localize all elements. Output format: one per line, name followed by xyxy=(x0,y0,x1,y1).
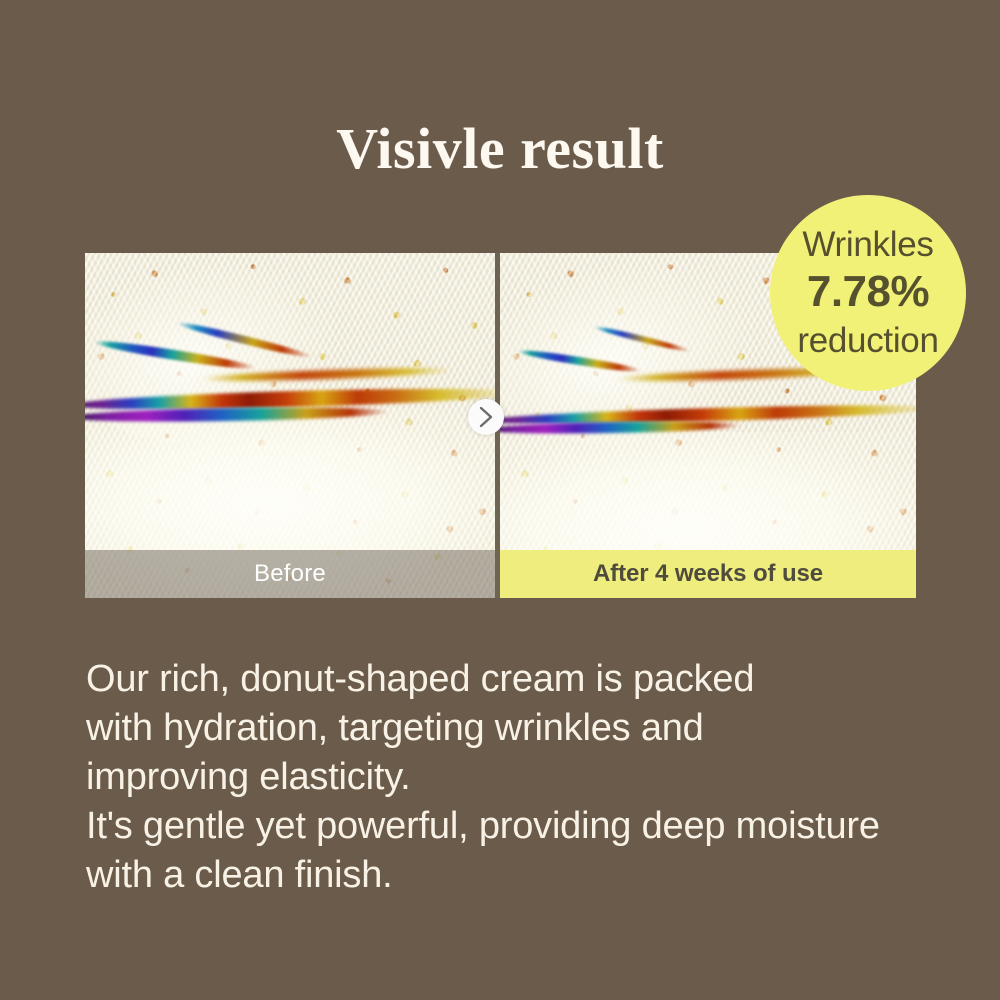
description-line-2: with hydration, targeting wrinkles and xyxy=(86,704,946,753)
after-caption: After 4 weeks of use xyxy=(500,550,916,598)
description-line-4: It's gentle yet powerful, providing deep… xyxy=(86,802,946,851)
before-panel: Before xyxy=(85,253,495,598)
wrinkle-reduction-badge: Wrinkles 7.78% reduction xyxy=(770,195,966,391)
badge-label-bottom: reduction xyxy=(797,319,938,363)
product-description: Our rich, donut-shaped cream is packed w… xyxy=(86,655,946,900)
description-line-1: Our rich, donut-shaped cream is packed xyxy=(86,655,946,704)
description-line-5: with a clean finish. xyxy=(86,851,946,900)
badge-label-top: Wrinkles xyxy=(802,223,933,267)
chevron-right-icon[interactable] xyxy=(468,399,504,435)
before-caption: Before xyxy=(85,550,495,598)
page-title: Visivle result xyxy=(0,120,1000,178)
badge-value: 7.78% xyxy=(807,267,929,317)
before-skin-image xyxy=(85,253,495,598)
description-line-3: improving elasticity. xyxy=(86,753,946,802)
